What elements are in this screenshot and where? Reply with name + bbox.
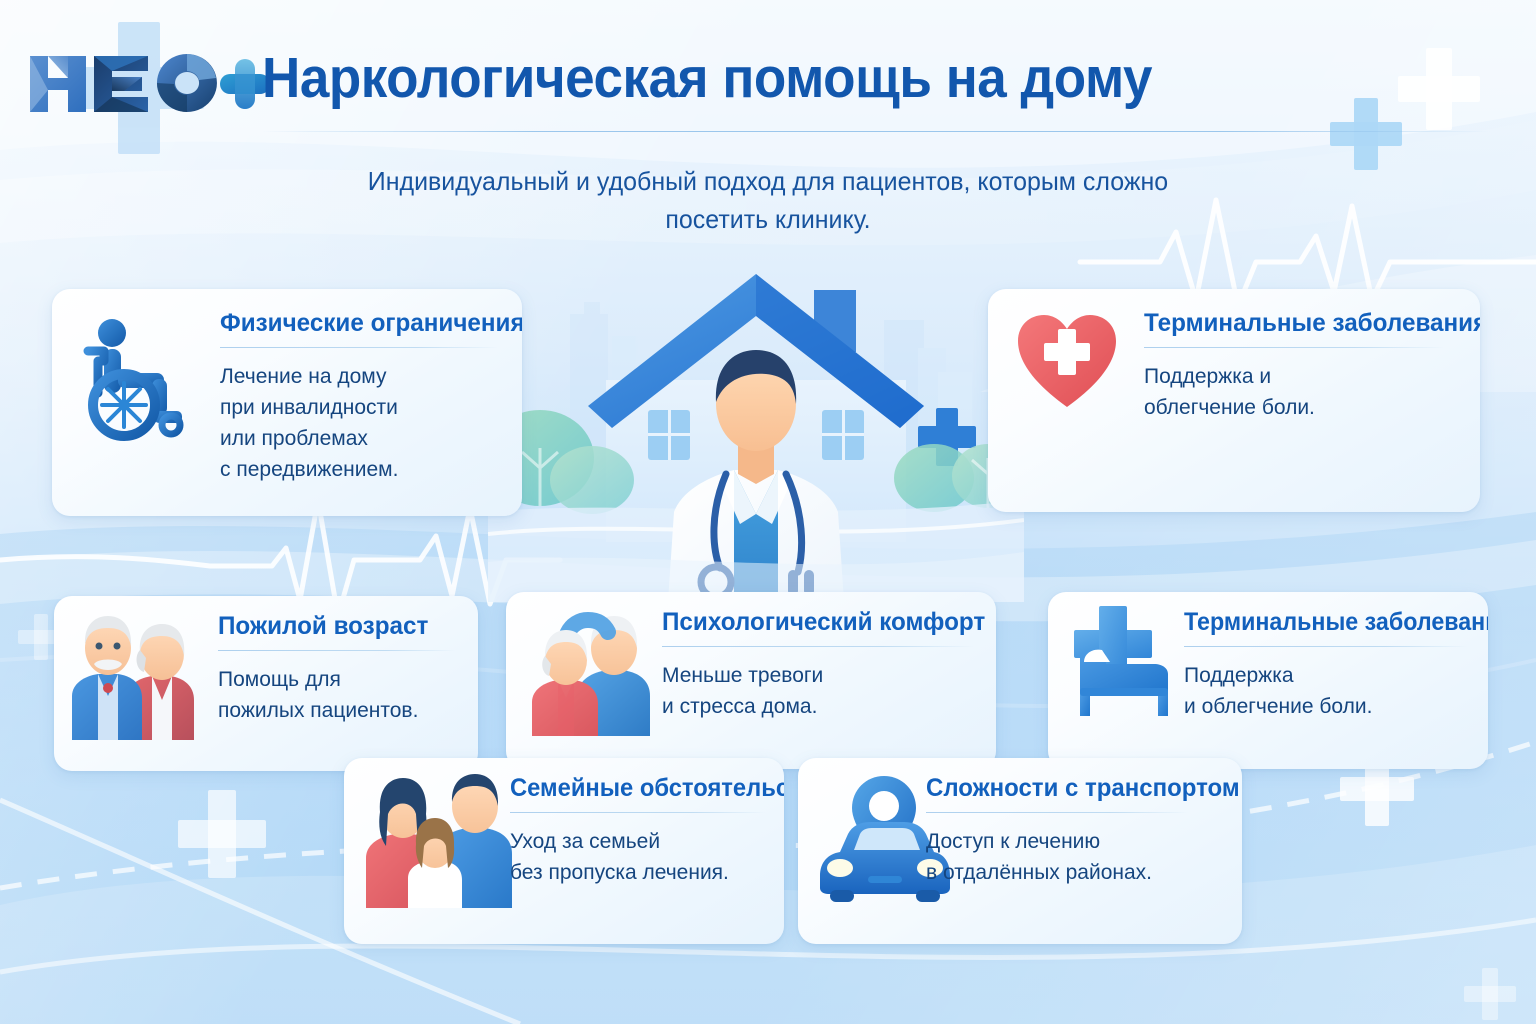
card-body-line: с передвижением. bbox=[220, 454, 398, 485]
card-divider bbox=[662, 646, 974, 647]
neo-plus-logo[interactable] bbox=[24, 38, 264, 120]
card-body-line: Поддержка и bbox=[1144, 361, 1315, 392]
card-body-line: пожилых пациентов. bbox=[218, 695, 418, 726]
card-body: Поддержка и облегчение боли. bbox=[1144, 361, 1315, 423]
card-terminal-illness-bed[interactable]: Терминальные заболевания Поддержка и обл… bbox=[1048, 592, 1488, 769]
card-body: Лечение на дому при инвалидности или про… bbox=[220, 361, 398, 485]
card-divider bbox=[220, 347, 498, 348]
logo-mark bbox=[24, 38, 274, 128]
card-body-line: Лечение на дому bbox=[220, 361, 398, 392]
card-body-line: и стресса дома. bbox=[662, 691, 823, 722]
card-body: Меньше тревоги и стресса дома. bbox=[662, 660, 823, 722]
elderly-couple-icon bbox=[68, 608, 198, 740]
card-body-line: Меньше тревоги bbox=[662, 660, 823, 691]
card-title: Физические ограничения bbox=[220, 309, 522, 338]
heart-cross-icon bbox=[1012, 307, 1122, 417]
card-body-line: Помощь для bbox=[218, 664, 418, 695]
card-title: Пожилой возраст bbox=[218, 612, 428, 641]
cross-bottom-far-right bbox=[1464, 968, 1516, 1020]
family-icon bbox=[360, 768, 520, 908]
card-body-line: в отдалённых районах. bbox=[926, 857, 1152, 888]
card-body-line: без пропуска лечения. bbox=[510, 857, 729, 888]
subtitle-line-2: посетить клинику. bbox=[31, 200, 1506, 238]
card-divider bbox=[926, 812, 1188, 813]
card-title: Сложности с транспортом bbox=[926, 774, 1240, 803]
card-transport-difficulty[interactable]: Сложности с транспортом Доступ к лечению… bbox=[798, 758, 1242, 944]
card-elderly-age[interactable]: Пожилой возраст Помощь для пожилых пацие… bbox=[54, 596, 478, 771]
card-body: Доступ к лечению в отдалённых районах. bbox=[926, 826, 1152, 888]
card-body: Поддержка и облегчение боли. bbox=[1184, 660, 1372, 722]
card-title: Терминальные заболевания bbox=[1184, 608, 1488, 637]
card-divider bbox=[218, 650, 456, 651]
card-body-line: облегчение боли. bbox=[1144, 392, 1315, 423]
card-title: Психологический комфорт bbox=[662, 608, 985, 637]
card-title: Терминальные заболевания bbox=[1144, 309, 1480, 338]
card-body-line: и облегчение боли. bbox=[1184, 691, 1372, 722]
card-divider bbox=[1144, 347, 1444, 348]
cross-bottom-left-white bbox=[178, 790, 266, 878]
card-body-line: или проблемах bbox=[220, 423, 398, 454]
card-divider bbox=[510, 812, 766, 813]
two-people-icon bbox=[530, 606, 655, 736]
page-title: Наркологическая помощь на дому bbox=[262, 45, 1152, 111]
infographic-canvas: Наркологическая помощь на дому Индивидуа… bbox=[0, 0, 1536, 1024]
subtitle-line-1: Индивидуальный и удобный подход для паци… bbox=[31, 162, 1506, 200]
hospital-bed-cross-icon bbox=[1066, 606, 1184, 724]
page-header: Наркологическая помощь на дому Индивидуа… bbox=[0, 0, 1536, 150]
doctor-at-home-illustration bbox=[488, 262, 1024, 602]
card-divider bbox=[1184, 646, 1468, 647]
card-body: Уход за семьей без пропуска лечения. bbox=[510, 826, 729, 888]
card-physical-limitations[interactable]: Физические ограничения Лечение на дому п… bbox=[52, 289, 522, 516]
card-title: Семейные обстоятельства bbox=[510, 774, 784, 803]
card-family-circumstances[interactable]: Семейные обстоятельства Уход за семьей б… bbox=[344, 758, 784, 944]
header-divider bbox=[262, 131, 1490, 132]
card-psychological-comfort[interactable]: Психологический комфорт Меньше тревоги и… bbox=[506, 592, 996, 769]
card-body-line: Уход за семьей bbox=[510, 826, 729, 857]
card-body-line: Поддержка bbox=[1184, 660, 1372, 691]
page-subtitle: Индивидуальный и удобный подход для паци… bbox=[31, 162, 1506, 238]
card-body-line: при инвалидности bbox=[220, 392, 398, 423]
card-terminal-illness-top[interactable]: Терминальные заболевания Поддержка и обл… bbox=[988, 289, 1480, 512]
wheelchair-icon bbox=[74, 307, 214, 447]
card-body-line: Доступ к лечению bbox=[926, 826, 1152, 857]
card-body: Помощь для пожилых пациентов. bbox=[218, 664, 418, 726]
